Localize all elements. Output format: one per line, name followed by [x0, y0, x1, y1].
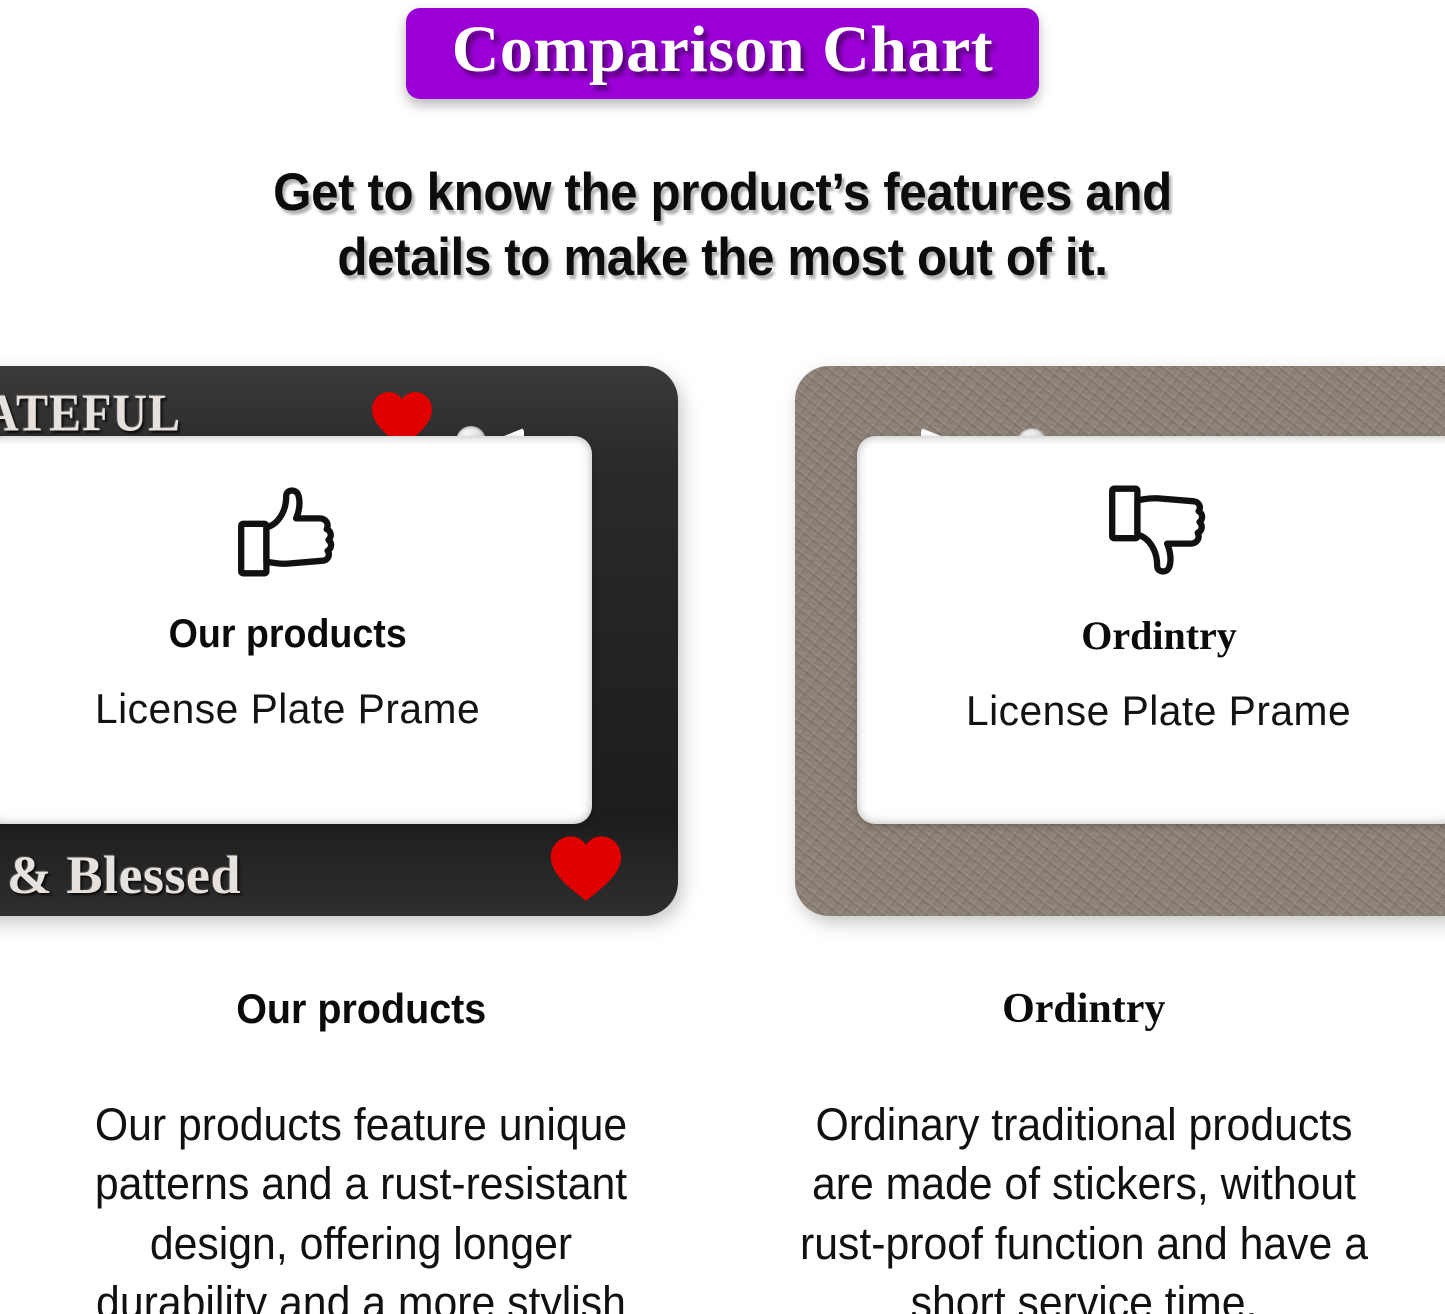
- thumbs-up-icon: [234, 480, 342, 582]
- right-plate-title: Ordintry: [1081, 612, 1237, 659]
- right-product-frame: Ordintry License Plate Prame: [795, 366, 1445, 916]
- right-description-column: Ordintry Ordinary traditional products a…: [723, 985, 1445, 1314]
- header-banner: Comparison Chart: [406, 8, 1040, 99]
- left-frame-bottom-band-text: kful & Blessed: [0, 844, 241, 906]
- left-plate-window: Our products License Plate Prame: [0, 436, 592, 824]
- right-frame-body: Ordintry License Plate Prame: [795, 366, 1445, 916]
- left-description-column: Our products Our products feature unique…: [0, 985, 723, 1314]
- right-plate-content: Ordintry License Plate Prame: [857, 436, 1445, 824]
- subtitle-line-1: Get to know the product’s features and: [51, 160, 1395, 225]
- left-plate-content: Our products License Plate Prame: [0, 436, 592, 824]
- subtitle-line-2: details to make the most out of it.: [51, 225, 1395, 290]
- right-plate-window: Ordintry License Plate Prame: [857, 436, 1445, 824]
- heart-icon-bottom: [548, 834, 624, 902]
- left-product-frame: GRATEFUL: [0, 366, 678, 916]
- thumbs-down-icon: [1105, 480, 1213, 582]
- descriptions-row: Our products Our products feature unique…: [0, 985, 1445, 1314]
- frames-comparison-row: GRATEFUL: [0, 358, 1445, 923]
- left-frame-body: GRATEFUL: [0, 366, 678, 916]
- right-plate-subtitle: License Plate Prame: [966, 687, 1351, 735]
- left-plate-subtitle: License Plate Prame: [95, 685, 480, 733]
- right-description-heading: Ordintry: [755, 985, 1414, 1033]
- page-subtitle: Get to know the product’s features and d…: [51, 160, 1395, 290]
- left-plate-title: Our products: [169, 612, 407, 657]
- left-frame-top-band-text: GRATEFUL: [0, 383, 181, 444]
- comparison-chart-page: Comparison Chart Get to know the product…: [0, 0, 1445, 1314]
- left-description-body: Our products feature unique patterns and…: [67, 1095, 656, 1314]
- page-title: Comparison Chart: [452, 14, 994, 87]
- header-banner-wrapper: Comparison Chart: [0, 8, 1445, 99]
- right-description-body: Ordinary traditional products are made o…: [799, 1095, 1369, 1314]
- left-description-heading: Our products: [52, 985, 671, 1033]
